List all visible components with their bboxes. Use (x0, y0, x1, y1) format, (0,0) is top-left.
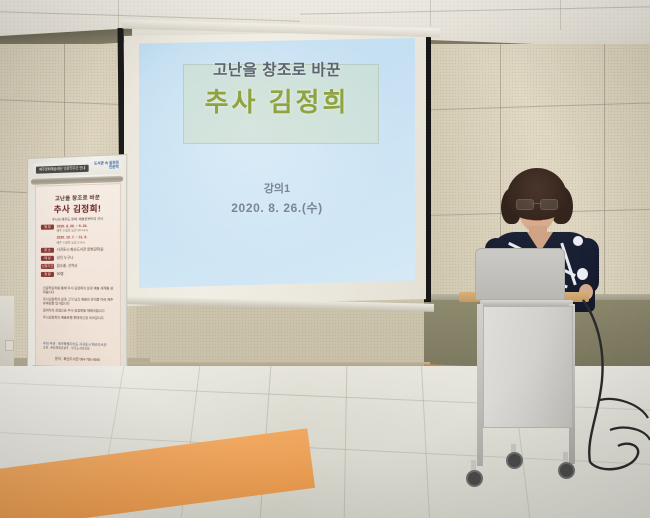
poster-row-value: 접수중, 선착순 (57, 263, 116, 268)
podium (459, 292, 589, 492)
slide-title-line1: 고난을 창조로 바꾼 (139, 58, 415, 80)
poster-row-value: 성인 누구나 (57, 255, 116, 260)
poster-info-row: 대 상 성인 누구나 (41, 255, 116, 261)
glasses-bridge (532, 203, 542, 204)
poster-body-line: 인문학강좌를 통해 추사 김정희의 삶과 예술 세계를 살펴봅니다 (43, 286, 115, 295)
poster-row-label: 대 상 (41, 256, 54, 262)
poster-banner-stand: 제주문화예술재단 인문학주간 안내 도서관 속 길위의 인문학 고난을 창조로 … (27, 158, 123, 398)
poster-info-row: 정 원 30명 (41, 272, 116, 278)
wall-panel-seam (604, 44, 605, 300)
caster-wheel-right (558, 462, 575, 479)
poster-row-value: 2020. 8. 26. ~ 9. 24. 매주 수요일 오전 10~12시 (57, 223, 116, 233)
poster-body-line: 참여자의 관점으로 추사 김정희를 재해석합니다 (43, 308, 115, 313)
poster-header: 제주문화예술재단 인문학주간 안내 도서관 속 길위의 인문학 (33, 160, 121, 176)
poster-footer: 주최·주관 : 제주특별자치도 서귀포시 화순도서관 후원 : 문화체육관광부 … (43, 341, 115, 351)
caster-wheel-left (466, 470, 483, 487)
caster-wheel-mid (506, 452, 523, 469)
poster-title-main: 추사 김정희! (36, 202, 120, 216)
lens-right (540, 199, 558, 210)
ceiling-seam (118, 0, 119, 30)
poster-info-row: 장 소 서귀포시 화순도서관 문화강좌실 (41, 247, 116, 253)
ceiling-seam (560, 0, 561, 30)
poster-info-row: 2020. 10. 7. ~ 11. 6. 매주 수요일 오후 2~5시 (41, 235, 116, 245)
poster-row-label: 일 정 (41, 225, 54, 231)
poster-info-rows: 일 정 2020. 8. 26. ~ 9. 24. 매주 수요일 오전 10~1… (41, 223, 116, 279)
ceiling-seam (430, 0, 431, 26)
poster-row-value: 서귀포시 화순도서관 문화강좌실 (57, 247, 116, 252)
garment-dot (577, 268, 588, 280)
slide-date: 2020. 8. 26.(수) (139, 199, 415, 216)
poster-body-line: 추사김정희의 삶과 그가 남긴 예술의 흔적을 따라 제주 유배길을 답사합니다 (43, 297, 115, 306)
poster-header-chip: 제주문화예술재단 인문학주간 안내 (36, 165, 89, 174)
poster-row-label: 신청기간 (41, 264, 54, 269)
poster-contact: 문의 : 화순도서관 064-760-4645 (36, 355, 120, 362)
glasses-icon (515, 199, 559, 208)
poster-header-brand: 도서관 속 길위의 인문학 (92, 161, 119, 173)
poster-paper: 고난을 창조로 바꾼 추사 김정희! 추사의 제주도 유배, 예술로부터의 건너… (35, 183, 121, 369)
slide-subtitle: 강의1 (139, 180, 415, 196)
poster-info-row: 신청기간 접수중, 선착순 (41, 263, 116, 269)
poster-row-value: 30명 (57, 272, 116, 277)
floor-grout (421, 366, 430, 518)
poster-row-note: 매주 수요일 오전 10~12시 (57, 228, 116, 233)
poster-row-label (41, 236, 54, 242)
projected-slide: 고난을 창조로 바꾼 추사 김정희 강의1 2020. 8. 26.(수) (139, 38, 415, 288)
poster-body: 인문학강좌를 통해 추사 김정희의 삶과 예술 세계를 살펴봅니다 추사김정희의… (43, 286, 115, 323)
poster-row-value: 2020. 10. 7. ~ 11. 6. 매주 수요일 오후 2~5시 (57, 235, 116, 245)
door-edge (0, 296, 14, 366)
poster-body-line: 추사김정희의 예술혼을 현대적으로 이어갑니다 (43, 315, 115, 320)
floor-grout (344, 366, 348, 518)
poster-row-note: 매주 수요일 오후 2~5시 (57, 240, 116, 245)
poster-row-label: 정 원 (41, 272, 54, 277)
lecture-hall-photo: 고난을 창조로 바꾼 추사 김정희 강의1 2020. 8. 26.(수) 제주… (0, 0, 650, 518)
lens-left (516, 199, 534, 210)
garment-dot (573, 236, 583, 246)
podium-body-panel (483, 306, 573, 428)
podium-front-panel (475, 248, 565, 300)
hair (507, 168, 567, 220)
slide-title-line2: 추사 김정희 (139, 82, 415, 119)
wall-outlet (5, 340, 14, 351)
poster-subtitle: 추사의 제주도 유배, 예술로부터의 건너 (36, 215, 120, 222)
poster-row-label: 장 소 (41, 248, 54, 254)
poster-info-row: 일 정 2020. 8. 26. ~ 9. 24. 매주 수요일 오전 10~1… (41, 223, 116, 233)
